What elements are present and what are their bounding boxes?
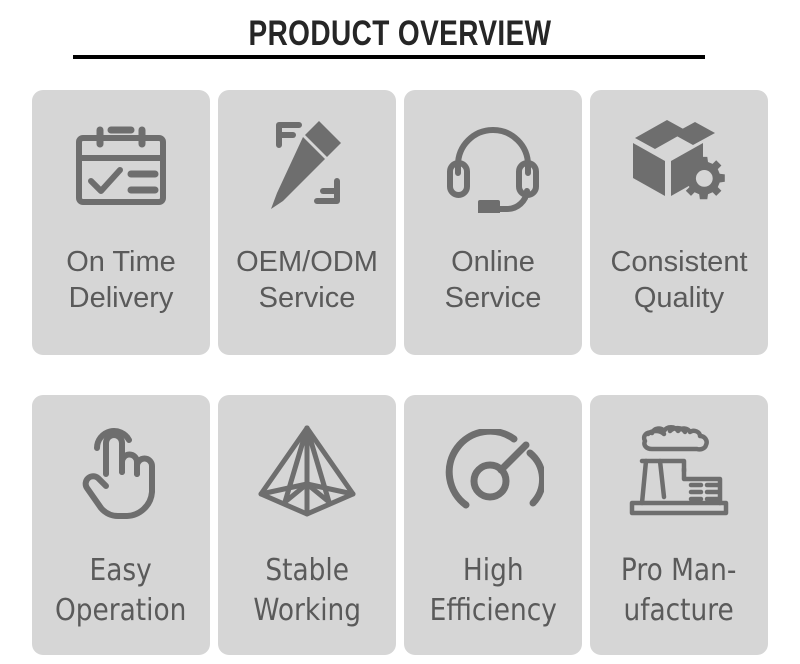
feature-card-grid: On Time Delivery OEM/ODM xyxy=(32,90,768,655)
headset-icon xyxy=(404,90,582,240)
pencil-design-icon xyxy=(218,90,396,240)
page-title: PRODUCT OVERVIEW xyxy=(80,14,720,54)
tap-hand-icon xyxy=(32,395,210,547)
box-gear-icon xyxy=(590,90,768,240)
feature-card-stable-working[interactable]: Stable Working xyxy=(218,395,396,655)
feature-card-easy-operation[interactable]: Easy Operation xyxy=(32,395,210,655)
feature-card-label: Stable Working xyxy=(250,551,365,631)
calendar-check-icon xyxy=(32,90,210,240)
feature-card-online-service[interactable]: Online Service xyxy=(404,90,582,355)
feature-card-label: Pro Man- ufacture xyxy=(618,551,741,631)
product-overview-panel: PRODUCT OVERVIEW On Time Delivery xyxy=(0,0,800,664)
feature-card-label: Consistent Quality xyxy=(606,244,751,316)
feature-card-oem-odm-service[interactable]: OEM/ODM Service xyxy=(218,90,396,355)
feature-card-label: Easy Operation xyxy=(52,551,190,631)
wireframe-pyramid-icon xyxy=(218,395,396,547)
feature-card-label: OEM/ODM Service xyxy=(232,244,382,316)
speedometer-icon xyxy=(404,395,582,547)
feature-card-pro-manufacture[interactable]: Pro Man- ufacture xyxy=(590,395,768,655)
feature-card-high-efficiency[interactable]: High Efficiency xyxy=(404,395,582,655)
feature-card-label: Online Service xyxy=(441,244,546,316)
feature-card-label: On Time Delivery xyxy=(62,244,180,316)
title-underline-divider xyxy=(73,55,705,59)
factory-icon xyxy=(590,395,768,547)
feature-card-consistent-quality[interactable]: Consistent Quality xyxy=(590,90,768,355)
feature-card-on-time-delivery[interactable]: On Time Delivery xyxy=(32,90,210,355)
feature-card-label: High Efficiency xyxy=(426,551,560,631)
header: PRODUCT OVERVIEW xyxy=(0,0,800,78)
